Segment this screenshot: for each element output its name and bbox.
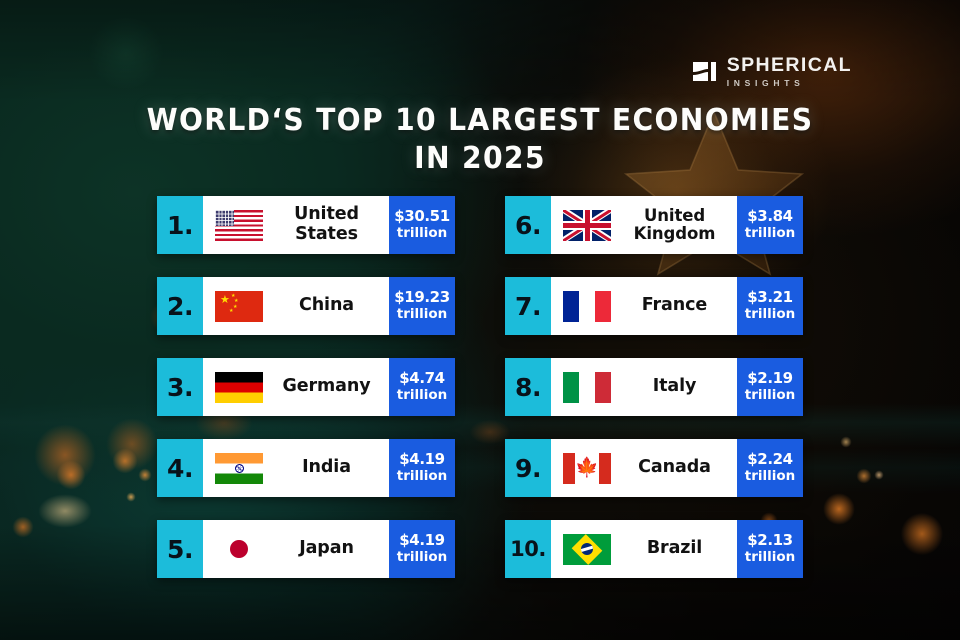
gdp-value-block: $2.24trillion <box>737 439 803 497</box>
ranking-row[interactable]: 2.★★★★★China$19.23trillion <box>157 277 455 335</box>
flag-italy-icon <box>563 372 611 403</box>
gdp-value-block: $2.19trillion <box>737 358 803 416</box>
ranking-row[interactable]: 5.Japan$4.19trillion <box>157 520 455 578</box>
country-cell: UnitedKingdom <box>551 196 737 254</box>
gdp-amount: $3.21 <box>747 289 792 307</box>
rank-number: 9. <box>505 439 551 497</box>
ranking-row[interactable]: 8.Italy$2.19trillion <box>505 358 803 416</box>
country-cell: France <box>551 277 737 335</box>
flag-france-icon <box>563 291 611 322</box>
country-name: France <box>622 296 731 316</box>
ranking-row[interactable]: 3.Germany$4.74trillion <box>157 358 455 416</box>
gdp-amount: $4.19 <box>399 532 444 550</box>
country-cell: ★★★★★China <box>203 277 389 335</box>
flag-japan-icon <box>215 534 263 565</box>
ranking-row[interactable]: 9.🍁Canada$2.24trillion <box>505 439 803 497</box>
country-cell: India <box>203 439 389 497</box>
flag-china-icon: ★★★★★ <box>215 291 263 322</box>
country-name: China <box>274 296 383 316</box>
flag-united-kingdom-icon <box>563 210 611 241</box>
spherical-logo-mark-icon <box>692 59 718 85</box>
brand-tagline: INSIGHTS <box>727 79 852 88</box>
gdp-unit: trillion <box>397 469 448 485</box>
rank-number: 8. <box>505 358 551 416</box>
ranking-row[interactable]: 6.UnitedKingdom$3.84trillion <box>505 196 803 254</box>
page-title-line-2: IN 2025 <box>29 140 931 178</box>
flag-brazil-icon <box>563 534 611 565</box>
ranking-row[interactable]: 10.Brazil$2.13trillion <box>505 520 803 578</box>
country-cell: Japan <box>203 520 389 578</box>
page-title-line-1: WORLD‘S TOP 10 LARGEST ECONOMIES <box>29 102 931 140</box>
ranking-column-left: 1.United States$30.51trillion2.★★★★★Chin… <box>157 196 455 578</box>
gdp-unit: trillion <box>397 388 448 404</box>
flag-united-states-icon <box>215 210 263 241</box>
rank-number: 6. <box>505 196 551 254</box>
page-title: WORLD‘S TOP 10 LARGEST ECONOMIES IN 2025 <box>0 102 960 179</box>
gdp-amount: $4.19 <box>399 451 444 469</box>
gdp-unit: trillion <box>745 226 796 242</box>
ranking-row[interactable]: 4.India$4.19trillion <box>157 439 455 497</box>
country-name: UnitedKingdom <box>622 207 731 244</box>
gdp-value-block: $3.21trillion <box>737 277 803 335</box>
ranking-row[interactable]: 7.France$3.21trillion <box>505 277 803 335</box>
gdp-amount: $3.84 <box>747 208 792 226</box>
gdp-amount: $2.24 <box>747 451 792 469</box>
country-name: India <box>274 458 383 478</box>
rank-number: 2. <box>157 277 203 335</box>
rank-number: 5. <box>157 520 203 578</box>
gdp-value-block: $2.13trillion <box>737 520 803 578</box>
gdp-amount: $19.23 <box>394 289 449 307</box>
gdp-unit: trillion <box>397 226 448 242</box>
gdp-amount: $2.19 <box>747 370 792 388</box>
gdp-value-block: $19.23trillion <box>389 277 455 335</box>
flag-india-icon <box>215 453 263 484</box>
gdp-unit: trillion <box>745 388 796 404</box>
country-cell: Italy <box>551 358 737 416</box>
gdp-unit: trillion <box>397 550 448 566</box>
gdp-unit: trillion <box>745 550 796 566</box>
gdp-value-block: $3.84trillion <box>737 196 803 254</box>
brand-logo[interactable]: SPHERICAL INSIGHTS <box>692 56 852 87</box>
country-cell: 🍁Canada <box>551 439 737 497</box>
rank-number: 3. <box>157 358 203 416</box>
country-cell: Brazil <box>551 520 737 578</box>
gdp-amount: $30.51 <box>394 208 449 226</box>
gdp-value-block: $30.51trillion <box>389 196 455 254</box>
gdp-amount: $2.13 <box>747 532 792 550</box>
gdp-unit: trillion <box>745 469 796 485</box>
country-cell: United States <box>203 196 389 254</box>
rank-number: 1. <box>157 196 203 254</box>
country-cell: Germany <box>203 358 389 416</box>
gdp-value-block: $4.19trillion <box>389 439 455 497</box>
gdp-value-block: $4.74trillion <box>389 358 455 416</box>
country-name: Canada <box>622 458 731 478</box>
gdp-unit: trillion <box>745 307 796 323</box>
gdp-value-block: $4.19trillion <box>389 520 455 578</box>
country-name: Italy <box>622 377 731 397</box>
country-name: United States <box>274 205 383 244</box>
gdp-amount: $4.74 <box>399 370 444 388</box>
rank-number: 10. <box>505 520 551 578</box>
brand-logo-text: SPHERICAL INSIGHTS <box>727 56 852 87</box>
flag-germany-icon <box>215 372 263 403</box>
ranking-column-right: 6.UnitedKingdom$3.84trillion7.France$3.2… <box>505 196 803 578</box>
country-name: Japan <box>274 539 383 559</box>
country-name: Brazil <box>622 539 731 559</box>
ranking-grid: 1.United States$30.51trillion2.★★★★★Chin… <box>157 196 803 578</box>
brand-name: SPHERICAL <box>727 56 852 76</box>
country-name: Germany <box>274 377 383 397</box>
ranking-row[interactable]: 1.United States$30.51trillion <box>157 196 455 254</box>
gdp-unit: trillion <box>397 307 448 323</box>
rank-number: 7. <box>505 277 551 335</box>
flag-canada-icon: 🍁 <box>563 453 611 484</box>
rank-number: 4. <box>157 439 203 497</box>
